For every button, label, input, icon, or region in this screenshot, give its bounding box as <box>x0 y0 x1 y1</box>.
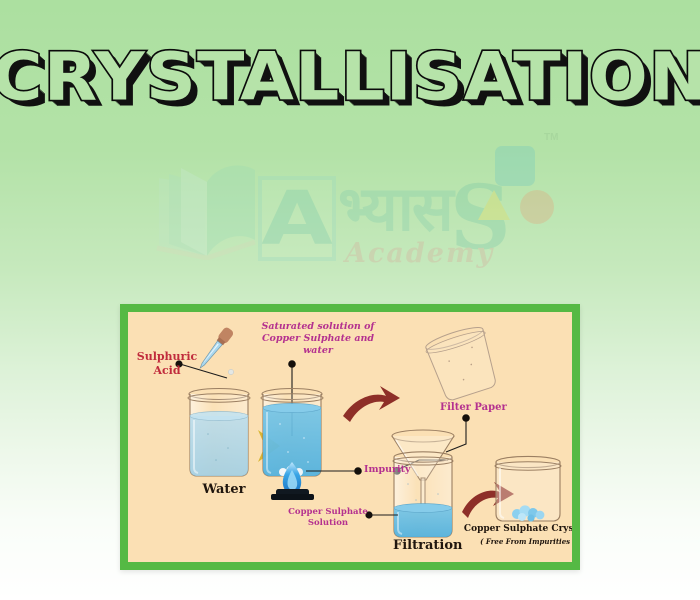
label-water: Water <box>194 482 254 498</box>
label-filter-paper: Filter Paper <box>440 402 507 415</box>
label-impurity: Impurity <box>364 464 411 476</box>
logo-circle-shape <box>520 190 554 224</box>
beaker-crystals <box>495 456 561 521</box>
logo-letter-a-box: A <box>258 176 336 261</box>
beaker-tilted-empty <box>423 323 502 403</box>
label-sulphuric-acid: Sulphuric Acid <box>136 350 198 378</box>
label-copper-sulphate-solution: Copper Sulphate Solution <box>288 507 368 528</box>
open-book-icon <box>155 160 260 260</box>
arrow-red-evaporate <box>343 386 400 422</box>
page-title: CRYSTALLISATION <box>0 44 700 110</box>
logo-square-shape <box>495 146 535 186</box>
crystallisation-diagram: Sulphuric Acid Saturated solution of Cop… <box>128 312 572 562</box>
logo-letter-s: S <box>450 174 511 262</box>
diagram-frame: Sulphuric Acid Saturated solution of Cop… <box>120 304 580 570</box>
trademark-mark: TM <box>544 132 558 143</box>
label-saturated-solution: Saturated solution of Copper Sulphate an… <box>258 321 378 357</box>
logo-tagline: Academy <box>345 240 494 267</box>
label-crystals-subtitle: ( Free From Impurities ) <box>468 538 572 547</box>
page-title-wrapper: CRYSTALLISATION <box>0 46 700 108</box>
label-crystals-title: Copper Sulphate Crystals <box>460 524 572 535</box>
watermark-logo: A भ्यास S Academy TM <box>150 128 560 293</box>
logo-devanagari: भ्यास <box>338 178 452 240</box>
leader-copper-sulphate-solution <box>365 511 398 518</box>
logo-letter-a: A <box>253 180 341 257</box>
dropper-pipette <box>196 326 235 371</box>
label-filtration: Filtration <box>393 538 455 554</box>
logo-triangle-shape <box>478 190 510 220</box>
beaker-water <box>188 389 250 477</box>
